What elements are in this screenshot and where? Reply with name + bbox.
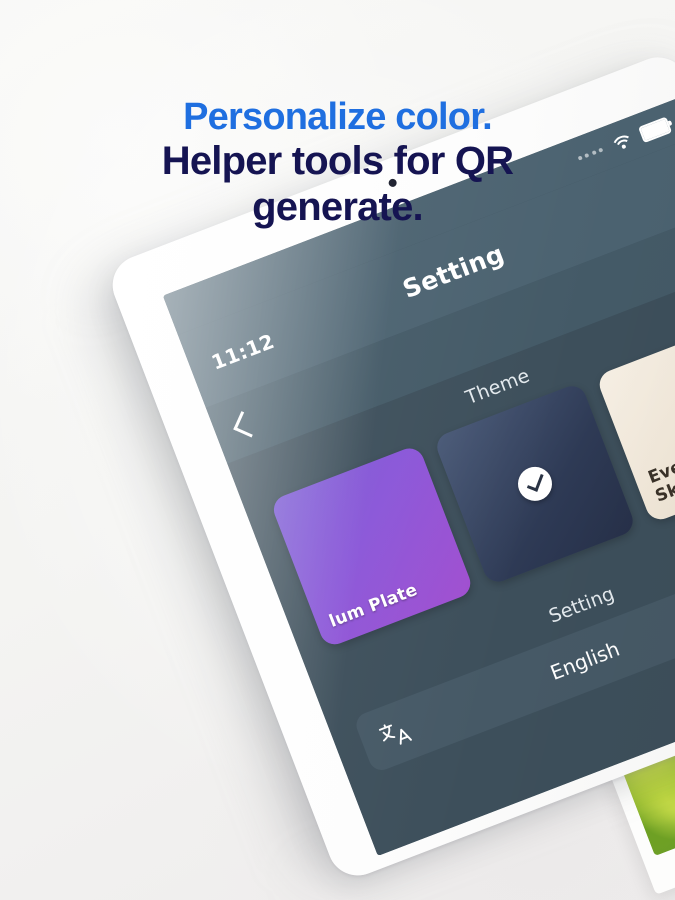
theme-card-label: lum Plate — [326, 580, 420, 632]
theme-card-selected[interactable] — [433, 382, 638, 586]
headline-line-1: Personalize color. — [0, 96, 675, 139]
headline-line-3: generate. — [0, 185, 675, 231]
headline-line-2: Helper tools for QR — [0, 139, 675, 185]
check-icon — [513, 462, 557, 506]
headline: Personalize color. Helper tools for QR g… — [0, 96, 675, 231]
chevron-left-icon[interactable] — [233, 411, 259, 437]
theme-card-label: Everlasting Sky — [645, 422, 675, 507]
translate-icon — [377, 716, 414, 751]
theme-card-plum-plate[interactable]: lum Plate — [270, 444, 475, 648]
